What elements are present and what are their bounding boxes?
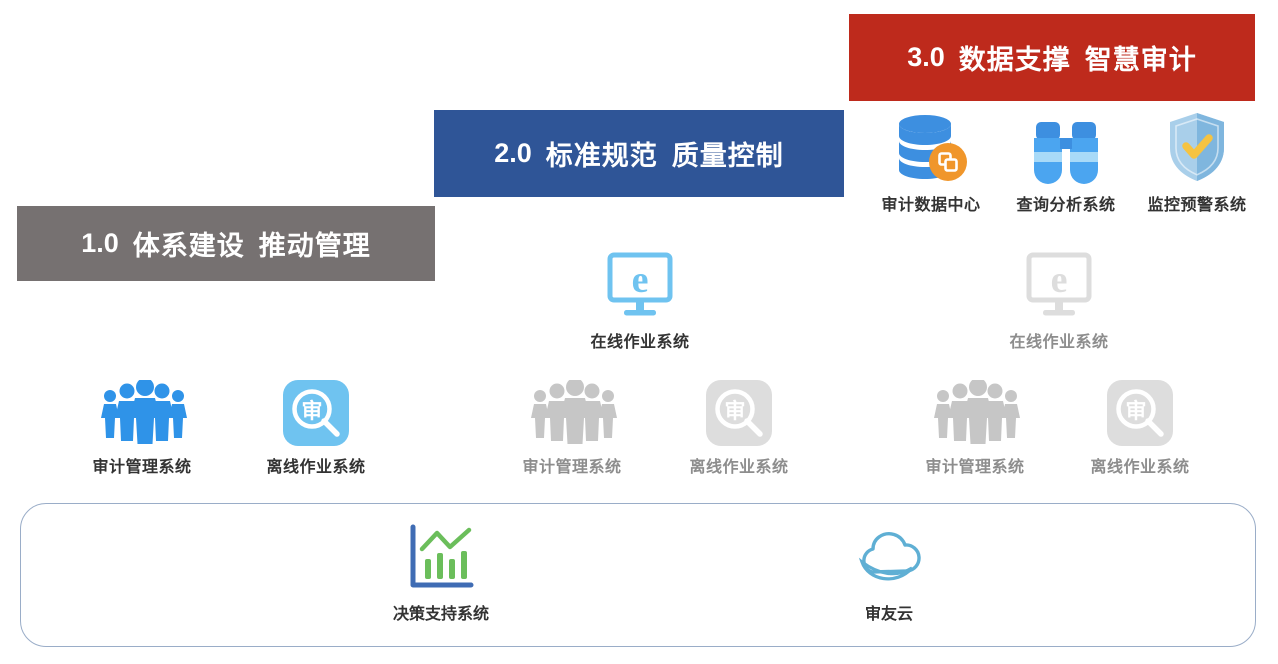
platform-label: 审友云 [789, 600, 989, 624]
platform-cell-shenyou-cloud[interactable]: 审友云 [789, 520, 989, 624]
icon-box [1122, 110, 1272, 184]
phase-keyword-a: 标准规范 [546, 134, 658, 173]
foundation-platform-panel: 决策支持系统 审友云 [20, 503, 1256, 647]
system-label: 审计数据中心 [856, 191, 1006, 215]
system-label: 离线作业系统 [664, 453, 814, 477]
svg-text:审: 审 [725, 399, 746, 423]
bar-chart-icon [405, 523, 477, 593]
icon-box: e [565, 247, 715, 321]
phase-banner-3: 3.0 数据支撑 智慧审计 [849, 14, 1255, 101]
database-stack-icon [893, 112, 969, 184]
platform-cell-decision-support-system[interactable]: 决策支持系统 [341, 520, 541, 624]
system-label: 在线作业系统 [984, 328, 1134, 352]
svg-text:审: 审 [1126, 399, 1147, 423]
system-cell-audit-management-system[interactable]: 审计管理系统 [67, 372, 217, 477]
people-group-icon [929, 380, 1021, 446]
system-cell-online-operation-system-dimmed[interactable]: e 在线作业系统 [984, 247, 1134, 352]
people-group-icon [96, 380, 188, 446]
icon-box [497, 372, 647, 446]
system-label: 审计管理系统 [900, 453, 1050, 477]
system-label: 在线作业系统 [565, 328, 715, 352]
system-cell-offline-operation-system[interactable]: 审 离线作业系统 [241, 372, 391, 477]
icon-box: 审 [241, 372, 391, 446]
monitor-e-icon: e [1019, 251, 1099, 321]
phase-number: 1.0 [81, 228, 119, 259]
people-group-icon [526, 380, 618, 446]
system-label: 审计管理系统 [67, 453, 217, 477]
svg-text:审: 审 [302, 399, 323, 423]
system-cell-query-analysis-system[interactable]: 查询分析系统 [991, 110, 1141, 215]
system-label: 离线作业系统 [241, 453, 391, 477]
icon-box [991, 110, 1141, 184]
svg-text:e: e [632, 259, 649, 301]
audit-magnifier-app-icon: 审 [706, 380, 772, 446]
platform-label: 决策支持系统 [341, 600, 541, 624]
system-label: 查询分析系统 [991, 191, 1141, 215]
phase-banner-2: 2.0 标准规范 质量控制 [434, 110, 844, 197]
system-label: 监控预警系统 [1122, 191, 1272, 215]
cloud-icon [850, 524, 928, 592]
phase-keyword-b: 智慧审计 [1085, 38, 1197, 77]
icon-box [856, 110, 1006, 184]
system-label: 离线作业系统 [1065, 453, 1215, 477]
monitor-e-icon: e [600, 251, 680, 321]
phase-keyword-b: 质量控制 [672, 134, 784, 173]
phase-number: 3.0 [907, 42, 945, 73]
icon-box [341, 520, 541, 596]
system-cell-online-operation-system[interactable]: e 在线作业系统 [565, 247, 715, 352]
diagram-canvas: 1.0 体系建设 推动管理 2.0 标准规范 质量控制 3.0 数据支撑 智慧审… [0, 0, 1278, 664]
phase-keyword-b: 推动管理 [259, 224, 371, 263]
icon-box [789, 520, 989, 596]
phase-number: 2.0 [494, 138, 532, 169]
system-cell-audit-management-system-dimmed[interactable]: 审计管理系统 [497, 372, 647, 477]
icon-box: e [984, 247, 1134, 321]
icon-box [67, 372, 217, 446]
system-cell-monitor-warning-system[interactable]: 监控预警系统 [1122, 110, 1272, 215]
binoculars-icon [1029, 112, 1103, 184]
phase-banner-1: 1.0 体系建设 推动管理 [17, 206, 435, 281]
audit-magnifier-app-icon: 审 [283, 380, 349, 446]
phase-keyword-a: 数据支撑 [959, 38, 1071, 77]
system-cell-offline-operation-system-dimmed[interactable]: 审 离线作业系统 [664, 372, 814, 477]
shield-check-icon [1164, 110, 1230, 184]
system-cell-offline-operation-system-dimmed-2[interactable]: 审 离线作业系统 [1065, 372, 1215, 477]
icon-box: 审 [664, 372, 814, 446]
system-cell-audit-data-center[interactable]: 审计数据中心 [856, 110, 1006, 215]
audit-magnifier-app-icon: 审 [1107, 380, 1173, 446]
icon-box: 审 [1065, 372, 1215, 446]
icon-box [900, 372, 1050, 446]
system-cell-audit-management-system-dimmed-2[interactable]: 审计管理系统 [900, 372, 1050, 477]
svg-text:e: e [1051, 259, 1068, 301]
phase-keyword-a: 体系建设 [133, 224, 245, 263]
system-label: 审计管理系统 [497, 453, 647, 477]
